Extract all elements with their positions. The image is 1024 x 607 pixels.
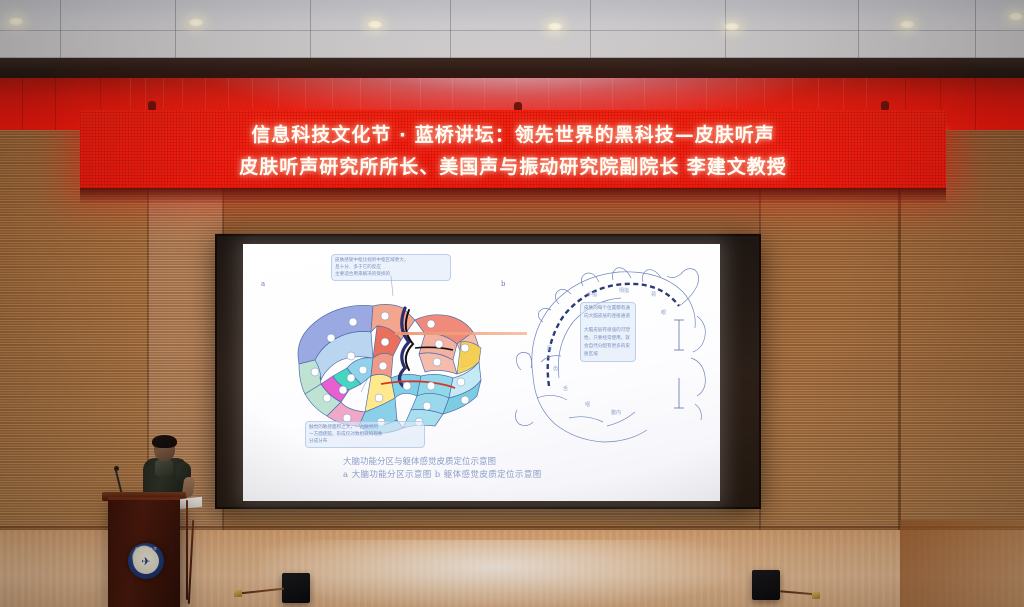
event-banner: 信息科技文化节 · 蓝桥讲坛：领先世界的黑科技—皮肤听声 皮肤听声研究所所长、美… xyxy=(80,110,946,188)
downlight xyxy=(547,22,563,31)
brain-region-diagram xyxy=(285,286,495,436)
stage-monitor-speaker xyxy=(282,573,310,603)
right-wall-return xyxy=(900,520,1024,607)
svg-text:唇: 唇 xyxy=(547,346,552,352)
presenter-hair xyxy=(152,435,177,448)
presenter-person xyxy=(139,437,197,499)
presenter-shirt xyxy=(155,460,173,476)
callout-bottom-line2: 一方面使脑，形成仅对数相联的现象 xyxy=(309,431,421,438)
svg-text:颈: 颈 xyxy=(651,291,656,298)
downlight xyxy=(1008,12,1024,21)
callout-top-line2: 且十分、多于它的反应 xyxy=(335,264,447,271)
downlight xyxy=(899,20,915,29)
callout-top: 皮肤感受中枢比视听中枢区域更大， 且十分、多于它的反应 主要适合用来解决的受损的 xyxy=(331,254,451,281)
floor-light-reflection xyxy=(260,540,730,607)
callout-bottom-line3: 分成分布 xyxy=(309,438,421,445)
downlight xyxy=(367,20,383,29)
downlight xyxy=(8,17,24,26)
callout-right-para1: 皮肤的每个位置都有通向大脑皮层的连接通道 xyxy=(584,305,632,321)
panel-a-label: a xyxy=(261,280,265,288)
svg-text:眼: 眼 xyxy=(661,310,666,316)
downlight xyxy=(188,18,204,27)
callout-bottom: 触觉的敏感面积之大，一占触觉的 一方面使脑，形成仅对数相联的现象 分成分布 xyxy=(305,421,425,448)
panel-b-label: b xyxy=(501,280,505,288)
floor-cable xyxy=(186,500,188,600)
downlight xyxy=(724,22,740,31)
banner-drop-shadow xyxy=(80,188,946,204)
slide-caption-line2: a 大脑功能分区示意图 b 躯体感觉皮质定位示意图 xyxy=(343,469,673,482)
svg-text:咽: 咽 xyxy=(585,402,590,408)
airplane-icon: ✈ xyxy=(135,557,157,566)
svg-text:齿: 齿 xyxy=(553,366,558,372)
lecture-hall-photo: 信息科技文化节 · 蓝桥讲坛：领先世界的黑科技—皮肤听声 皮肤听声研究所所长、美… xyxy=(0,0,1024,607)
callout-top-line1: 皮肤感受中枢比视听中枢区域更大， xyxy=(335,257,447,264)
svg-text:手指: 手指 xyxy=(587,291,597,298)
callout-right: 皮肤的每个位置都有通向大脑皮层的连接通道 大脑皮层有很强的可塑性，只要经常使用，… xyxy=(580,302,636,362)
speaker-connector xyxy=(812,592,820,599)
slide-pointer-line xyxy=(395,332,527,335)
callout-bottom-line1: 触觉的敏感面积之大，一占触觉的 xyxy=(309,424,421,431)
speaker-connector xyxy=(234,590,242,597)
callout-right-para2: 大脑皮层有很强的可塑性，只要经常使用，就会自然分配有更多的皮质区域 xyxy=(584,327,632,359)
projection-screen-frame: a b 皮肤感受中枢比视听中枢区域更大， 且十分、多于它的反应 主要适合用来解决… xyxy=(215,234,761,509)
banner-title-line1: 信息科技文化节 · 蓝桥讲坛：领先世界的黑科技—皮肤听声 xyxy=(251,120,774,147)
svg-text:腹内: 腹内 xyxy=(611,409,621,416)
ceiling-panels xyxy=(0,0,1024,62)
slide-caption: 大脑功能分区与躯体感觉皮质定位示意图 a 大脑功能分区示意图 b 躯体感觉皮质定… xyxy=(343,456,673,482)
svg-text:拇指: 拇指 xyxy=(619,287,629,294)
projection-screen-surface[interactable]: a b 皮肤感受中枢比视听中枢区域更大， 且十分、多于它的反应 主要适合用来解决… xyxy=(243,244,720,501)
stage-monitor-speaker xyxy=(752,570,780,600)
svg-text:舌: 舌 xyxy=(563,385,568,392)
banner-title-line2: 皮肤听声研究所所长、美国声与振动研究院副院长 李建文教授 xyxy=(239,152,787,179)
presentation-slide: a b 皮肤感受中枢比视听中枢区域更大， 且十分、多于它的反应 主要适合用来解决… xyxy=(243,244,720,501)
slide-caption-line1: 大脑功能分区与躯体感觉皮质定位示意图 xyxy=(343,456,673,469)
ceiling-shadow-band xyxy=(0,58,1024,80)
callout-top-line3: 主要适合用来解决的受损的 xyxy=(335,271,447,278)
university-emblem[interactable]: 中国民航大学 ✈ xyxy=(128,543,164,579)
